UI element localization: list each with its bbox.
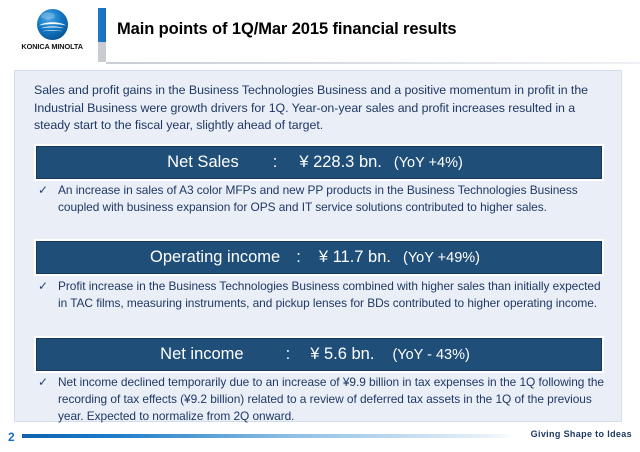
list-item-text: An increase in sales of A3 color MFPs an… xyxy=(58,182,604,216)
metric-value: ¥ 228.3 bn. xyxy=(299,153,382,172)
metric-label: Net Sales xyxy=(167,153,239,172)
metric-banner-content: Net Sales : ¥ 228.3 bn. (YoY +4%) xyxy=(167,153,463,172)
metric-banner-net-income: Net income : ¥ 5.6 bn. (YoY - 43%) xyxy=(36,338,602,371)
check-icon: ✓ xyxy=(38,182,58,199)
konica-minolta-globe-icon xyxy=(36,8,69,41)
metric-banner-net-sales: Net Sales : ¥ 228.3 bn. (YoY +4%) xyxy=(36,146,602,179)
metric-banner-content: Net income : ¥ 5.6 bn. (YoY - 43%) xyxy=(160,345,470,364)
slide-footer: 2 Giving Shape to Ideas xyxy=(0,424,640,452)
footer-accent-line xyxy=(22,434,514,438)
metric-colon: : xyxy=(286,345,291,364)
metric-banner-operating-income: Operating income : ¥ 11.7 bn. (YoY +49%) xyxy=(36,241,602,274)
header-divider xyxy=(106,62,640,64)
check-icon: ✓ xyxy=(38,278,58,295)
metric-colon: : xyxy=(273,153,278,172)
metric-value: ¥ 11.7 bn. xyxy=(319,248,391,267)
list-item-text: Net income declined temporarily due to a… xyxy=(58,374,604,426)
metric-label: Operating income xyxy=(150,248,280,267)
brand-logo: KONICA MINOLTA xyxy=(14,8,90,58)
list-item: ✓ Profit increase in the Business Techno… xyxy=(38,278,604,312)
metric-colon: : xyxy=(296,248,301,267)
page-title: Main points of 1Q/Mar 2015 financial res… xyxy=(117,20,456,39)
page-number: 2 xyxy=(8,430,15,444)
intro-paragraph: Sales and profit gains in the Business T… xyxy=(34,82,609,135)
metric-yoy: (YoY +4%) xyxy=(394,155,463,171)
metric-label: Net income xyxy=(160,345,243,364)
list-item: ✓ An increase in sales of A3 color MFPs … xyxy=(38,182,604,216)
brand-logo-text: KONICA MINOLTA xyxy=(21,42,83,51)
check-icon: ✓ xyxy=(38,374,58,391)
list-item-text: Profit increase in the Business Technolo… xyxy=(58,278,604,312)
slide-header: KONICA MINOLTA Main points of 1Q/Mar 201… xyxy=(0,0,640,66)
metric-value: ¥ 5.6 bn. xyxy=(310,345,374,364)
title-accent-bar xyxy=(98,8,106,62)
content-panel: Sales and profit gains in the Business T… xyxy=(14,70,622,422)
accent-bar-gray xyxy=(98,42,106,62)
metric-yoy: (YoY +49%) xyxy=(403,250,480,266)
metric-banner-content: Operating income : ¥ 11.7 bn. (YoY +49%) xyxy=(150,248,480,267)
list-item: ✓ Net income declined temporarily due to… xyxy=(38,374,604,426)
accent-bar-blue xyxy=(98,8,106,42)
metric-yoy: (YoY - 43%) xyxy=(392,347,469,363)
brand-tagline: Giving Shape to Ideas xyxy=(531,429,632,439)
